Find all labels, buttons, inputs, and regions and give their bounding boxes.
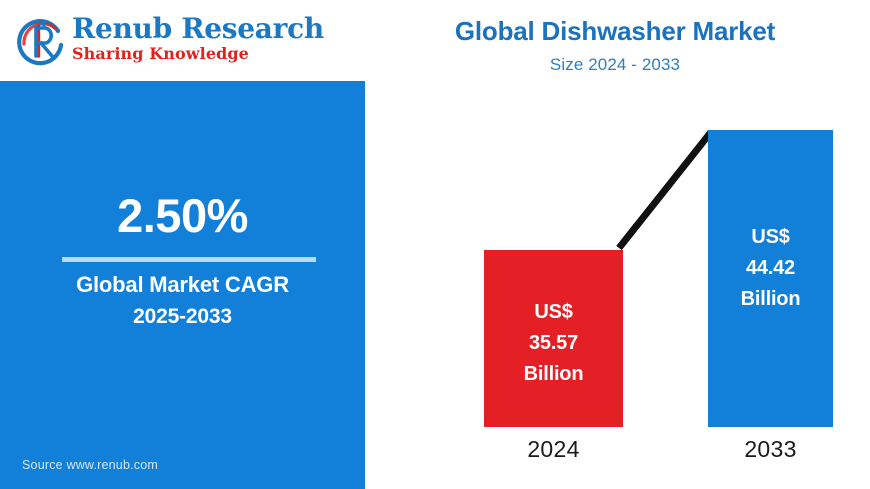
bar-2033-label: US$ 44.42 Billion (708, 222, 833, 315)
cagr-period: 2025-2033 (0, 302, 365, 332)
bar-2033-value: 44.42 (708, 253, 833, 284)
bar-2024-unit: Billion (484, 359, 623, 390)
page-title: Global Dishwasher Market (375, 16, 855, 47)
brand-name: Renub Research (72, 14, 302, 44)
bar-2024-label: US$ 35.57 Billion (484, 297, 623, 390)
brand-logo[interactable]: Renub Research Sharing Knowledge (14, 8, 304, 74)
infographic-canvas: Renub Research Sharing Knowledge Global … (0, 0, 870, 489)
axis-tick-2024: 2024 (484, 436, 623, 463)
cagr-panel: 2.50% Global Market CAGR 2025-2033 Sourc… (0, 81, 365, 489)
bar-2033-unit: Billion (708, 284, 833, 315)
bar-2024-value: 35.57 (484, 328, 623, 359)
axis-tick-2033: 2033 (708, 436, 833, 463)
cagr-label: Global Market CAGR (0, 270, 365, 300)
brand-wordmark: Renub Research Sharing Knowledge (72, 14, 302, 63)
bar-2024[interactable]: US$ 35.57 Billion (484, 250, 623, 427)
renub-circular-r-logo-icon (14, 14, 70, 70)
brand-tagline: Sharing Knowledge (72, 45, 302, 63)
cagr-divider (62, 257, 316, 262)
bar-2024-currency: US$ (484, 297, 623, 328)
bar-chart-plot: US$ 35.57 Billion US$ 44.42 Billion 2024… (365, 81, 870, 489)
cagr-value: 2.50% (0, 191, 365, 241)
bar-2033-currency: US$ (708, 222, 833, 253)
bar-2033[interactable]: US$ 44.42 Billion (708, 130, 833, 427)
source-note: Source www.renub.com (22, 458, 158, 472)
page-subtitle: Size 2024 - 2033 (375, 55, 855, 75)
